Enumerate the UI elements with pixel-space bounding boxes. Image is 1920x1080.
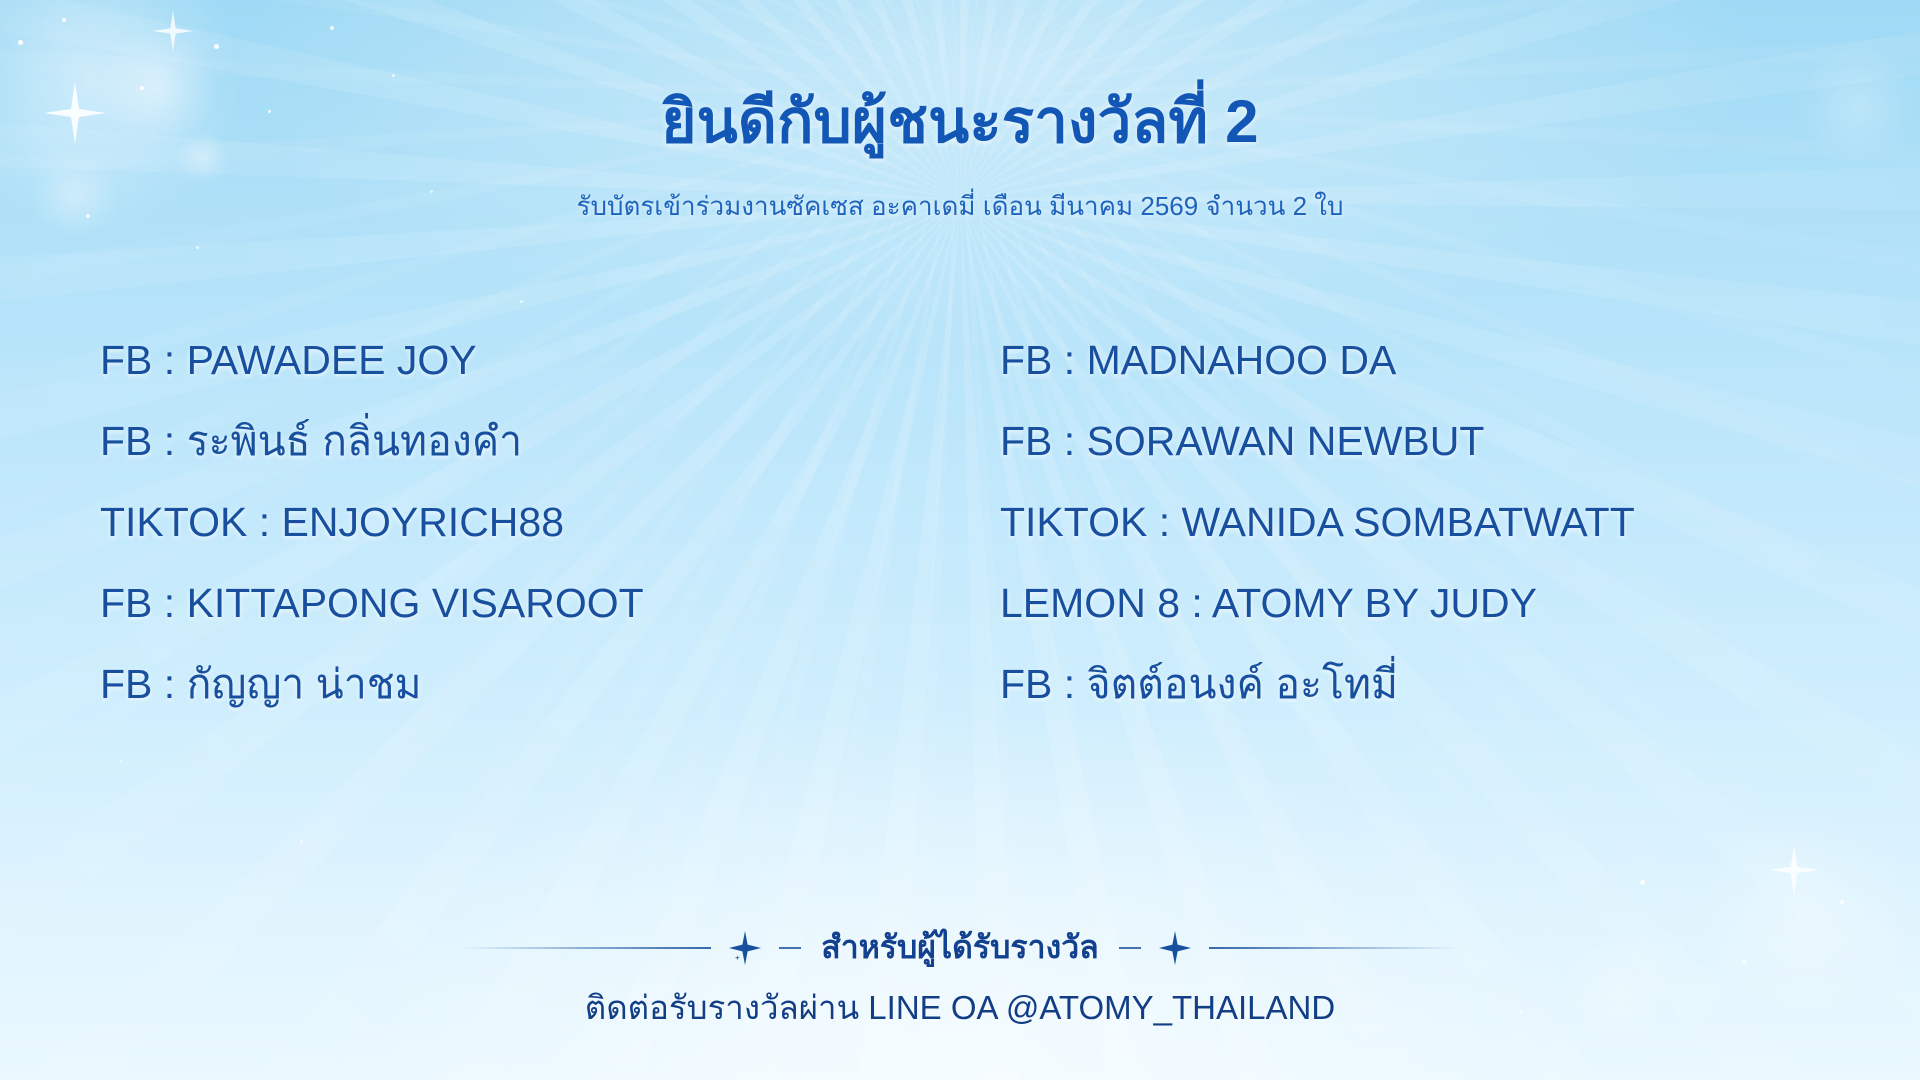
winners-right-column: FB : MADNAHOO DA FB : SORAWAN NEWBUT TIK…	[1000, 340, 1900, 705]
poster-canvas: ยินดีกับผู้ชนะรางวัลที่ 2 รับบัตรเข้าร่ว…	[0, 0, 1920, 1080]
list-item: FB : KITTAPONG VISAROOT	[100, 583, 1000, 624]
sparkle-icon	[1155, 928, 1195, 968]
footer-heading-row: สำหรับผู้ได้รับรางวัล	[0, 922, 1920, 973]
footer-contact: ติดต่อรับรางวัลผ่าน LINE OA @ATOMY_THAIL…	[0, 981, 1920, 1034]
winners-list: FB : PAWADEE JOY FB : ระพินธ์ กลิ่นทองคำ…	[0, 340, 1920, 705]
footer-heading: สำหรับผู้ได้รับรางวัล	[815, 922, 1105, 973]
page-subtitle: รับบัตรเข้าร่วมงานซัคเซส อะคาเดมี่ เดือน…	[0, 186, 1920, 227]
poster-content: ยินดีกับผู้ชนะรางวัลที่ 2 รับบัตรเข้าร่ว…	[0, 0, 1920, 1080]
list-item: FB : กัญญา น่าชม	[100, 664, 1000, 705]
divider-dash-left	[779, 947, 801, 949]
winners-left-column: FB : PAWADEE JOY FB : ระพินธ์ กลิ่นทองคำ…	[100, 340, 1000, 705]
list-item: FB : SORAWAN NEWBUT	[1000, 421, 1900, 462]
footer: สำหรับผู้ได้รับรางวัล ติดต่อรับรางวัลผ่า…	[0, 922, 1920, 1034]
divider-right	[1209, 947, 1459, 949]
list-item: TIKTOK : WANIDA SOMBATWATT	[1000, 502, 1900, 543]
list-item: FB : ระพินธ์ กลิ่นทองคำ	[100, 421, 1000, 462]
list-item: FB : MADNAHOO DA	[1000, 340, 1900, 381]
sparkle-icon	[725, 928, 765, 968]
divider-left	[461, 947, 711, 949]
list-item: FB : จิตต์อนงค์ อะโทมี่	[1000, 664, 1900, 705]
divider-dash-right	[1119, 947, 1141, 949]
list-item: TIKTOK : ENJOYRICH88	[100, 502, 1000, 543]
list-item: FB : PAWADEE JOY	[100, 340, 1000, 381]
page-title: ยินดีกับผู้ชนะรางวัลที่ 2	[0, 74, 1920, 169]
list-item: LEMON 8 : ATOMY BY JUDY	[1000, 583, 1900, 624]
